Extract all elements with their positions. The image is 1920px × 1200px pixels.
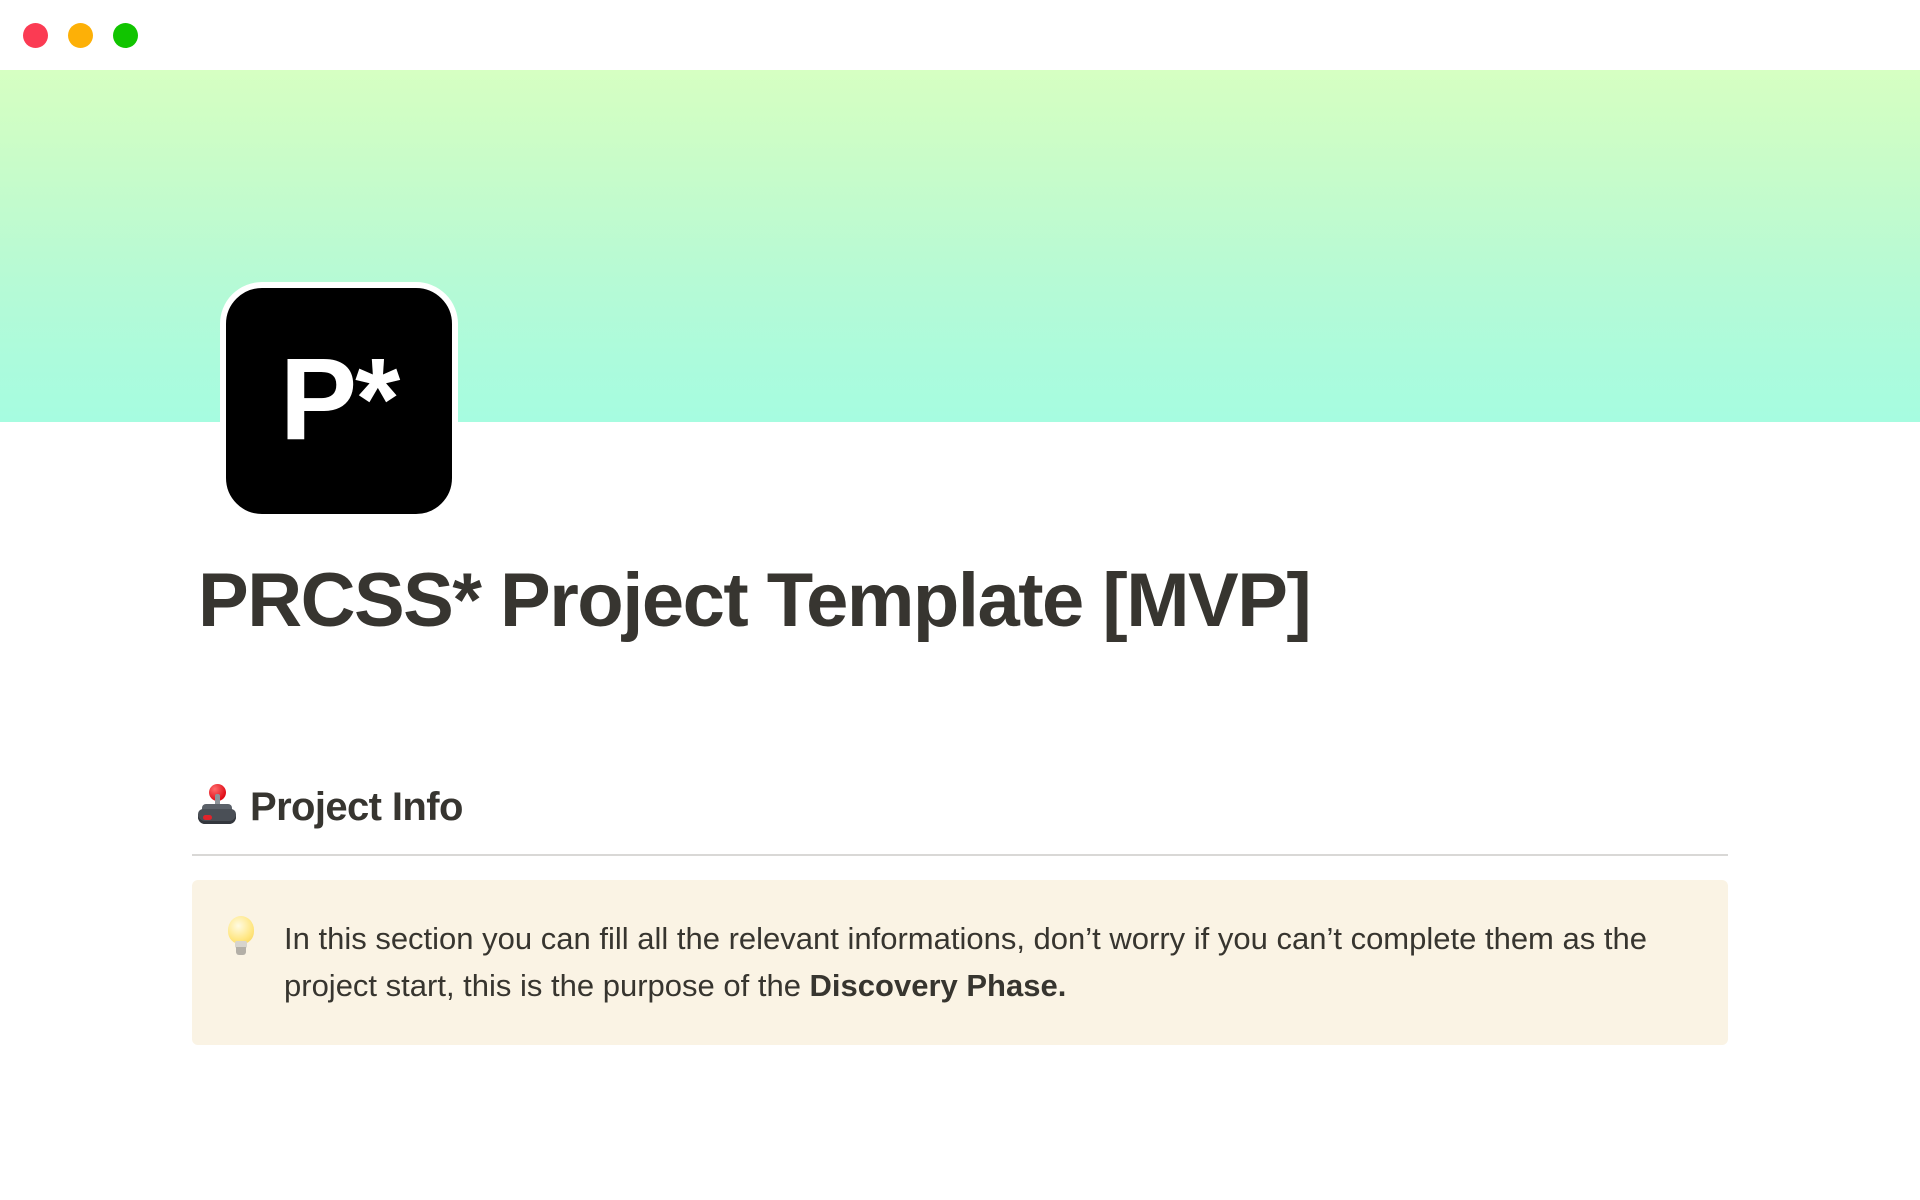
joystick-emoji <box>198 784 236 831</box>
section-divider <box>192 854 1728 856</box>
app-window: P* PRCSS* Project Template [MVP] Project… <box>0 0 1920 1200</box>
section-heading-project-info[interactable]: Project Info <box>192 784 1728 831</box>
section-heading-label: Project Info <box>250 785 463 830</box>
page-icon-glyph: P* <box>280 341 399 457</box>
page-content: PRCSS* Project Template [MVP] Project In… <box>192 560 1728 1045</box>
callout-block[interactable]: In this section you can fill all the rel… <box>192 880 1728 1045</box>
page-icon[interactable]: P* <box>220 282 458 520</box>
callout-text-bold: Discovery Phase. <box>810 968 1067 1003</box>
traffic-light-controls <box>23 23 138 48</box>
window-titlebar <box>0 0 1920 70</box>
maximize-window-button[interactable] <box>113 23 138 48</box>
callout-text: In this section you can fill all the rel… <box>284 916 1684 1009</box>
minimize-window-button[interactable] <box>68 23 93 48</box>
page-icon-wrapper[interactable]: P* <box>220 282 458 520</box>
close-window-button[interactable] <box>23 23 48 48</box>
page-title[interactable]: PRCSS* Project Template [MVP] <box>192 560 1728 642</box>
light-bulb-icon <box>226 916 256 970</box>
